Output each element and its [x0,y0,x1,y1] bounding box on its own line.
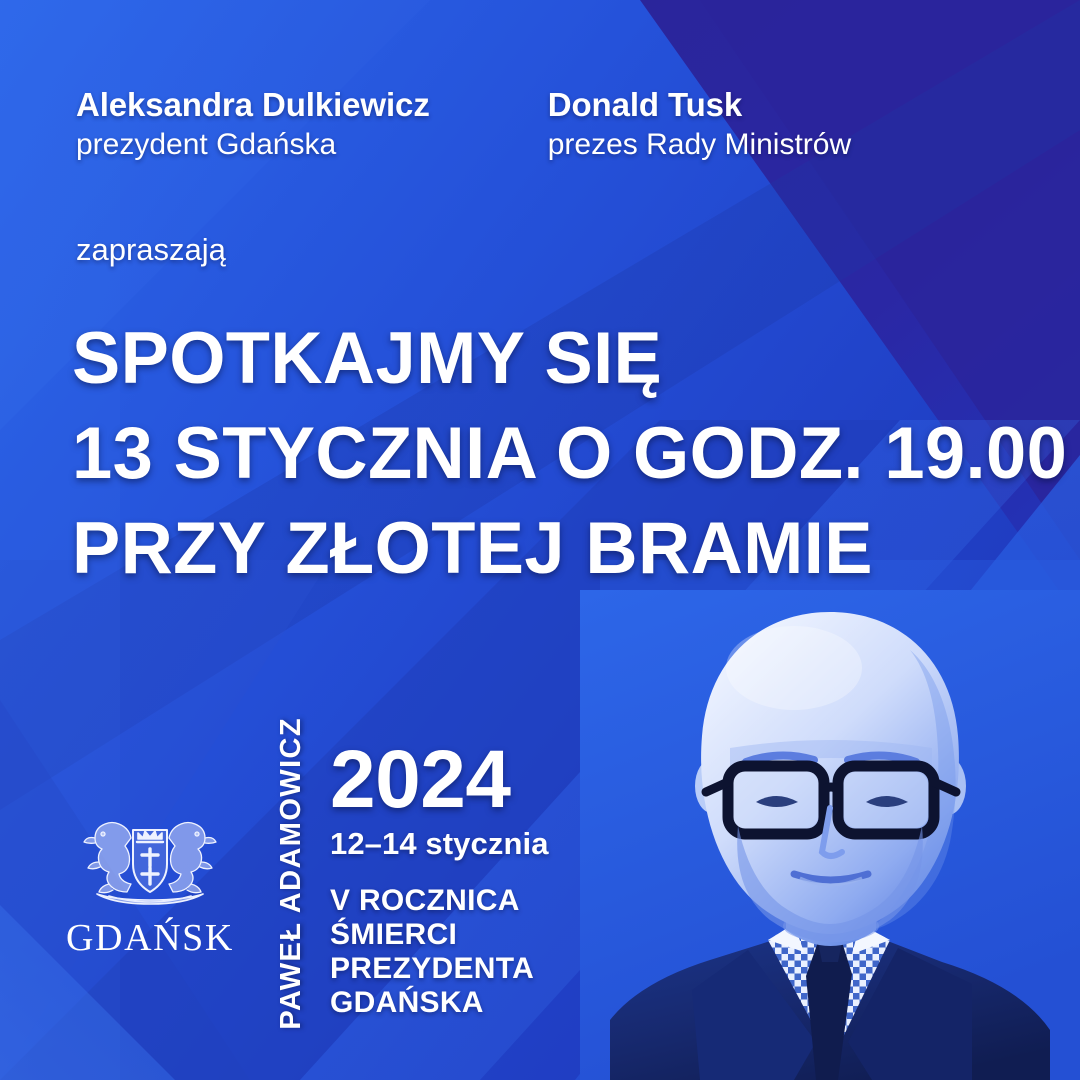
event-poster: Aleksandra Dulkiewicz prezydent Gdańska … [0,0,1080,1080]
headline-line-3: PRZY ZŁOTEJ BRAMIE [72,512,1067,585]
anniversary-subtitle-line-4: GDAŃSKA [330,986,549,1020]
headline-line-1: SPOTKAJMY SIĘ [72,322,1067,395]
anniversary-subtitle-line-3: PREZYDENTA [330,952,549,986]
headline-line-2: 13 STYCZNIA O GODZ. 19.00 [72,417,1067,490]
host-tusk: Donald Tusk prezes Rady Ministrów [548,86,851,163]
host-dulkiewicz: Aleksandra Dulkiewicz prezydent Gdańska [76,86,430,163]
gdansk-logo: GDAŃSK [52,812,248,960]
anniversary-subtitle-line-1: V ROCZNICA [330,884,549,918]
vertical-name-pawel-adamowicz: PAWEŁ ADAMOWICZ [268,740,314,1030]
host-role: prezes Rady Ministrów [548,128,851,163]
host-name: Aleksandra Dulkiewicz [76,86,430,124]
anniversary-year: 2024 [330,742,549,817]
invitation-verb: zapraszają [76,232,226,268]
anniversary-block: 2024 12–14 stycznia V ROCZNICA ŚMIERCI P… [330,742,549,1020]
hosts-block: Aleksandra Dulkiewicz prezydent Gdańska … [76,86,851,163]
gdansk-coat-of-arms-icon [75,812,225,910]
anniversary-subtitle-line-2: ŚMIERCI [330,918,549,952]
anniversary-subtitle: V ROCZNICA ŚMIERCI PREZYDENTA GDAŃSKA [330,884,549,1020]
headline: SPOTKAJMY SIĘ 13 STYCZNIA O GODZ. 19.00 … [72,322,1077,607]
gdansk-wordmark: GDAŃSK [52,916,248,960]
anniversary-dates: 12–14 stycznia [330,826,549,862]
vertical-name-text: PAWEŁ ADAMOWICZ [275,717,308,1030]
host-role: prezydent Gdańska [76,128,430,163]
host-name: Donald Tusk [548,86,851,124]
